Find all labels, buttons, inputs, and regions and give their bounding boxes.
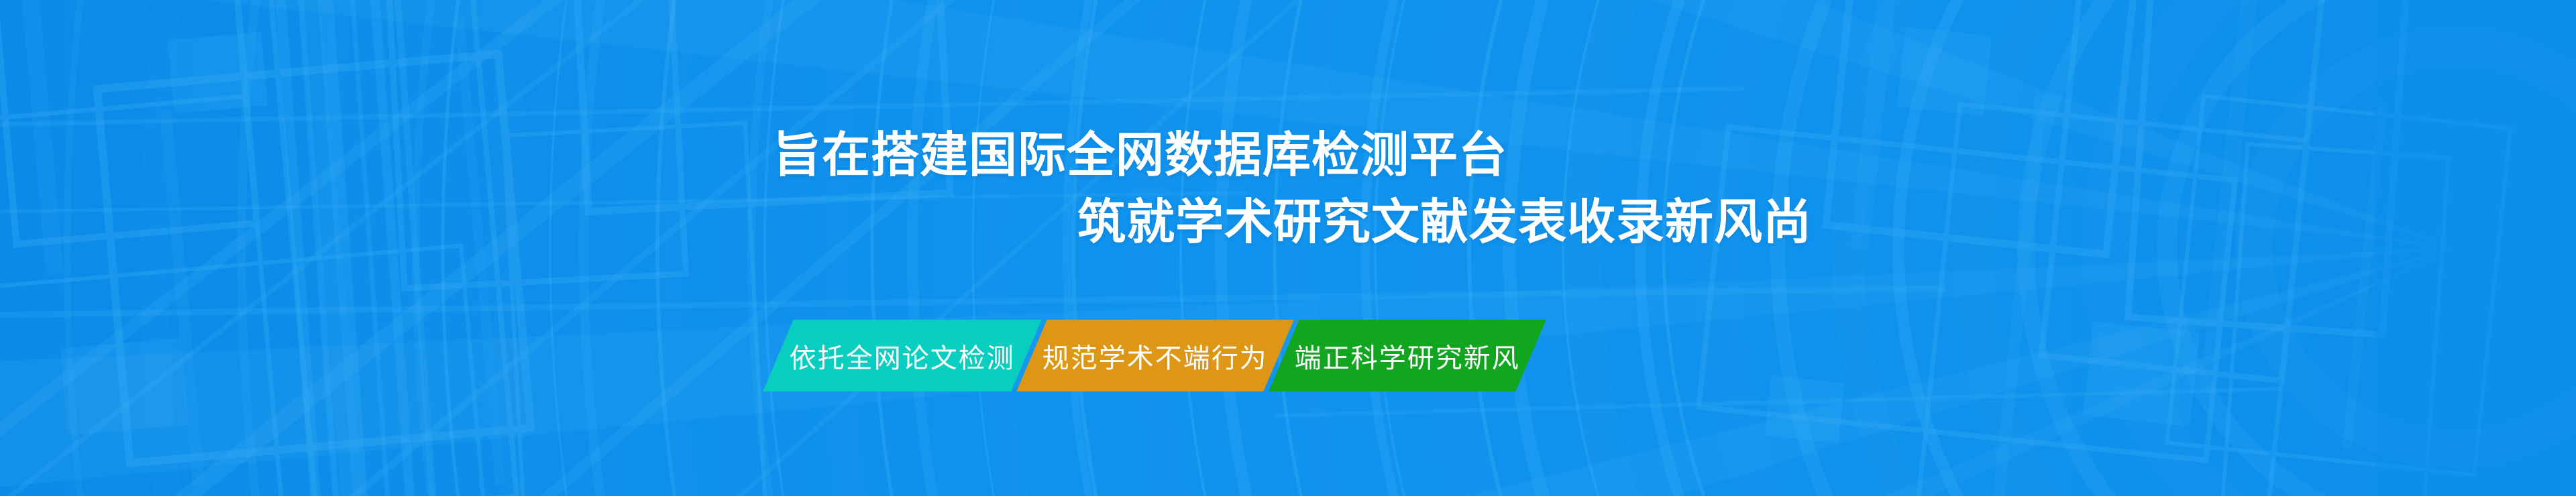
- tag-academic-misconduct-label: 规范学术不端行为: [1012, 336, 1299, 375]
- tag-paper-detection-label: 依托全网论文检测: [759, 336, 1046, 375]
- headline-line-2: 筑就学术研究文献发表收录新风尚: [1077, 189, 2576, 256]
- tag-paper-detection[interactable]: 依托全网论文检测: [763, 320, 1041, 391]
- tag-research-ethos[interactable]: 端正科学研究新风: [1269, 320, 1546, 391]
- tag-research-ethos-label: 端正科学研究新风: [1264, 336, 1551, 375]
- headline-group: 旨在搭建国际全网数据库检测平台 筑就学术研究文献发表收录新风尚: [0, 122, 2576, 256]
- feature-tag-strip: 依托全网论文检测 规范学术不端行为 端正科学研究新风: [778, 320, 1531, 391]
- tag-academic-misconduct[interactable]: 规范学术不端行为: [1016, 320, 1293, 391]
- promo-banner: 旨在搭建国际全网数据库检测平台 筑就学术研究文献发表收录新风尚 依托全网论文检测…: [0, 0, 2576, 496]
- headline-line-1: 旨在搭建国际全网数据库检测平台: [773, 122, 2576, 189]
